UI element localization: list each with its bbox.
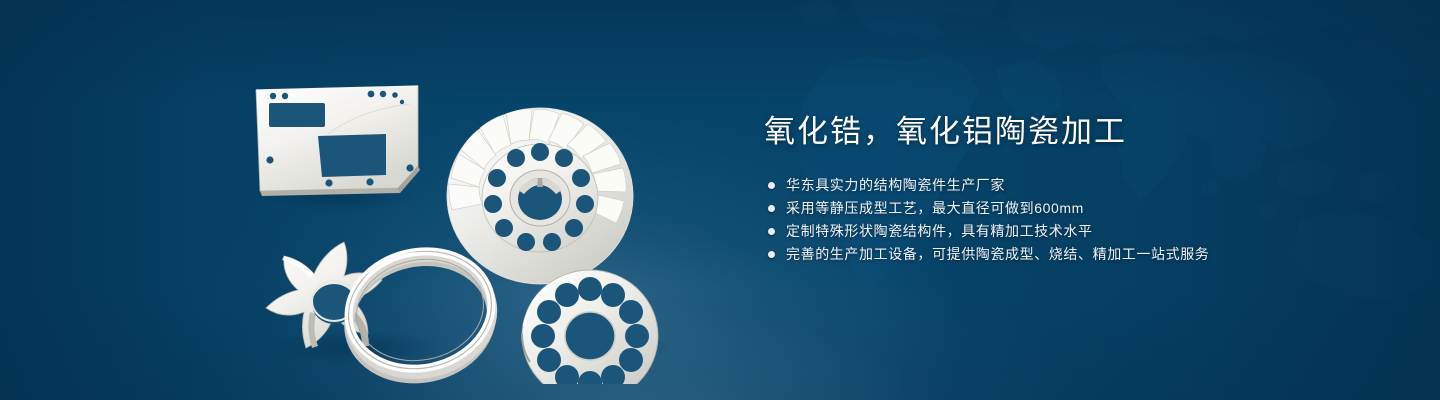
hero-banner: 氧化锆，氧化铝陶瓷加工 华东具实力的结构陶瓷件生产厂家 采用等静压成型工艺，最大…	[0, 0, 1440, 400]
bullet-dot-icon	[768, 251, 775, 258]
product-photo-group	[240, 48, 680, 384]
feature-item: 完善的生产加工设备，可提供陶瓷成型、烧结、精加工一站式服务	[764, 243, 1324, 266]
feature-text: 采用等静压成型工艺，最大直径可做到600mm	[786, 197, 1084, 220]
feature-item: 定制特殊形状陶瓷结构件，具有精加工技术水平	[764, 220, 1324, 243]
banner-headline: 氧化锆，氧化铝陶瓷加工	[764, 112, 1324, 152]
bullet-dot-icon	[768, 228, 775, 235]
banner-feature-list: 华东具实力的结构陶瓷件生产厂家 采用等静压成型工艺，最大直径可做到600mm 定…	[764, 174, 1324, 266]
feature-text: 定制特殊形状陶瓷结构件，具有精加工技术水平	[786, 220, 1093, 243]
ceramic-impeller-disc	[447, 108, 633, 284]
ceramic-cross-blade	[266, 242, 382, 348]
feature-item: 采用等静压成型工艺，最大直径可做到600mm	[764, 197, 1324, 220]
ceramic-mounting-plate	[256, 86, 420, 196]
feature-text: 华东具实力的结构陶瓷件生产厂家	[786, 174, 1005, 197]
bullet-dot-icon	[768, 182, 775, 189]
banner-copy: 氧化锆，氧化铝陶瓷加工 华东具实力的结构陶瓷件生产厂家 采用等静压成型工艺，最大…	[764, 112, 1324, 266]
bullet-dot-icon	[768, 205, 775, 212]
feature-item: 华东具实力的结构陶瓷件生产厂家	[764, 174, 1324, 197]
ceramic-perforated-disc	[522, 270, 658, 384]
feature-text: 完善的生产加工设备，可提供陶瓷成型、烧结、精加工一站式服务	[786, 243, 1209, 266]
